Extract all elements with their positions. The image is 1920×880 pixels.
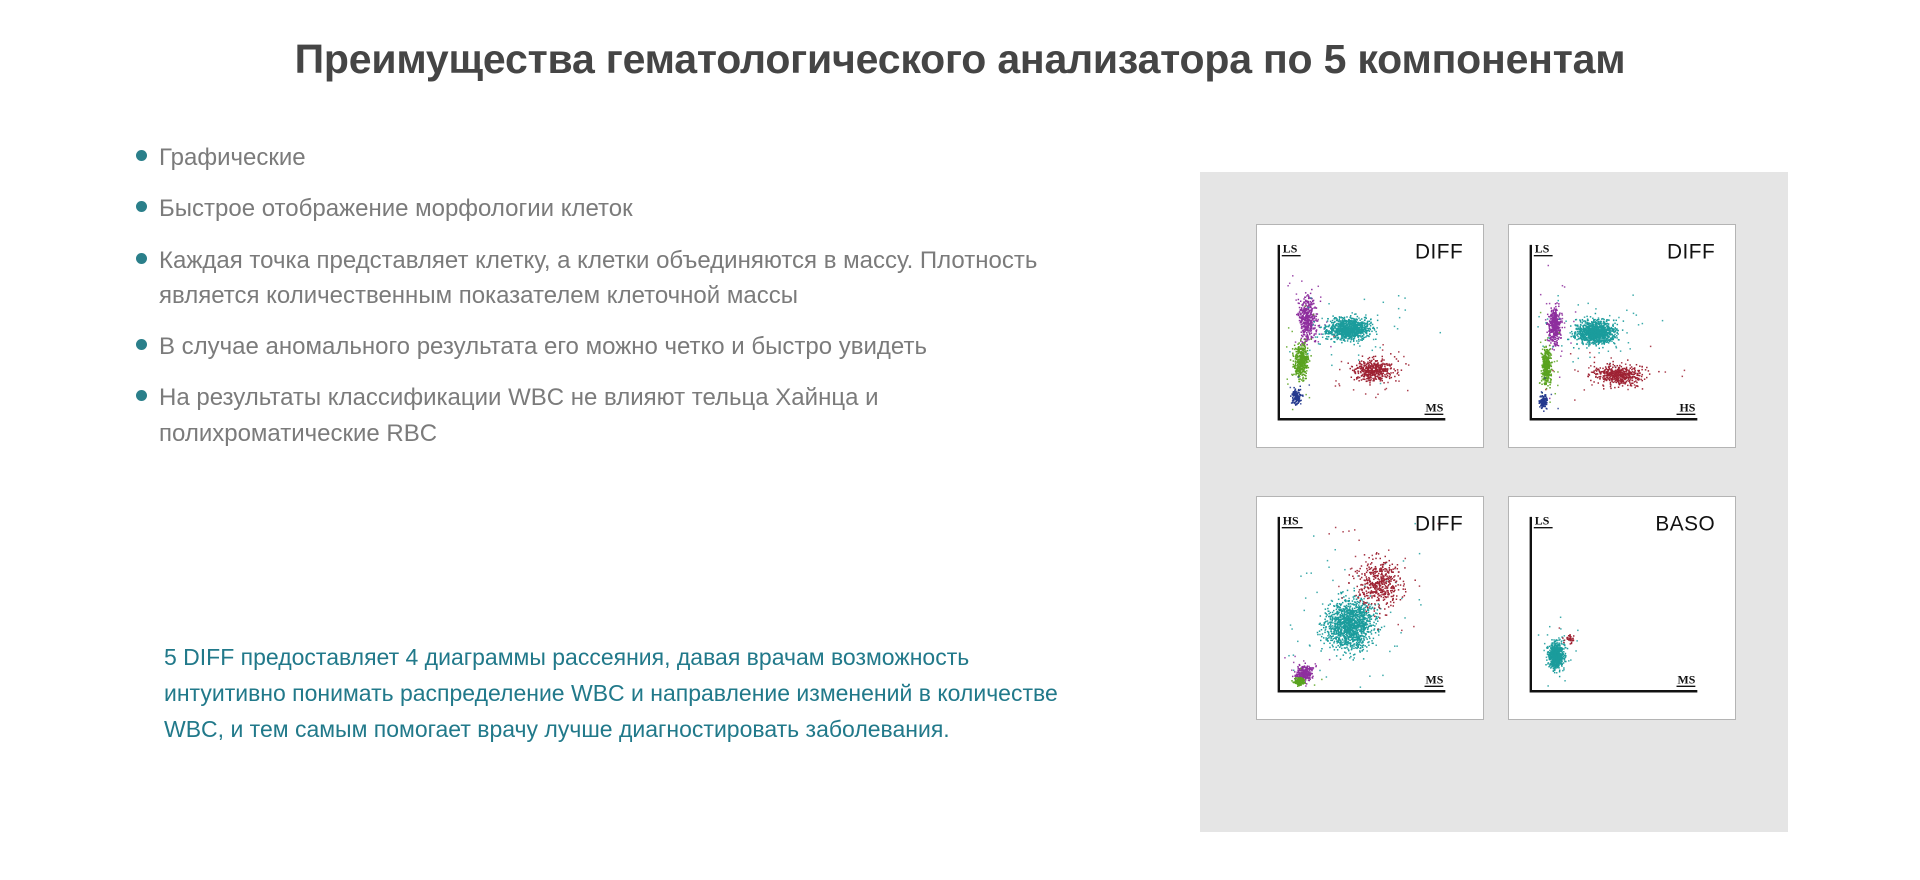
plot-axes	[1279, 517, 1446, 691]
list-item-label: В случае аномального результата его можн…	[159, 329, 927, 364]
scattergram-plot: LS MS BASO	[1509, 497, 1735, 719]
list-item: В случае аномального результата его можн…	[136, 329, 1096, 364]
list-item-label: Быстрое отображение морфологии клеток	[159, 191, 633, 226]
x-axis-label: HS	[1680, 400, 1696, 414]
summary-paragraph: 5 DIFF предоставляет 4 диаграммы рассеян…	[164, 640, 1064, 748]
y-axis-label: LS	[1283, 242, 1298, 256]
list-item-label: Графические	[159, 140, 306, 175]
scattergram-card-baso[interactable]: LS MS BASO	[1508, 496, 1736, 720]
list-item: Графические	[136, 140, 1096, 175]
list-item: Быстрое отображение морфологии клеток	[136, 191, 1096, 226]
y-axis-label: LS	[1535, 242, 1550, 256]
plot-points-1	[1537, 265, 1685, 412]
scattergram-plot: LS HS DIFF	[1509, 225, 1735, 447]
scattergram-plot: HS MS DIFF	[1257, 497, 1483, 719]
list-item: Каждая точка представляет клетку, а клет…	[136, 243, 1096, 314]
benefits-list: Графические Быстрое отображение морфолог…	[136, 140, 1096, 467]
scattergram-card-diff-diag[interactable]: HS MS DIFF	[1256, 496, 1484, 720]
plot-points-3	[1538, 617, 1579, 687]
bullet-dot-icon	[136, 390, 147, 401]
scattergram-title: BASO	[1655, 513, 1715, 536]
scattergram-title: DIFF	[1415, 241, 1463, 264]
y-axis-label: LS	[1535, 514, 1550, 528]
plot-points-2	[1284, 523, 1439, 688]
x-axis-label: MS	[1426, 400, 1444, 414]
scattergram-title: DIFF	[1415, 513, 1463, 536]
x-axis-label: MS	[1426, 672, 1444, 686]
scattergram-title: DIFF	[1667, 241, 1715, 264]
y-axis-label: HS	[1283, 514, 1299, 528]
scattergram-grid: LS MS DIFF LS HS DIFF HS	[1256, 224, 1736, 720]
scattergram-card-diff-hs[interactable]: LS HS DIFF	[1508, 224, 1736, 448]
bullet-dot-icon	[136, 150, 147, 161]
x-axis-label: MS	[1678, 672, 1696, 686]
bullet-dot-icon	[136, 201, 147, 212]
list-item-label: Каждая точка представляет клетку, а клет…	[159, 243, 1096, 314]
scattergram-panel: LS MS DIFF LS HS DIFF HS	[1200, 172, 1788, 832]
scattergram-plot: LS MS DIFF	[1257, 225, 1483, 447]
bullet-dot-icon	[136, 339, 147, 350]
bullet-dot-icon	[136, 253, 147, 264]
plot-points-0	[1286, 275, 1441, 410]
list-item-label: На результаты классификации WBC не влияю…	[159, 380, 1096, 451]
page-title: Преимущества гематологического анализато…	[0, 36, 1920, 83]
list-item: На результаты классификации WBC не влияю…	[136, 380, 1096, 451]
scattergram-card-diff-ms[interactable]: LS MS DIFF	[1256, 224, 1484, 448]
